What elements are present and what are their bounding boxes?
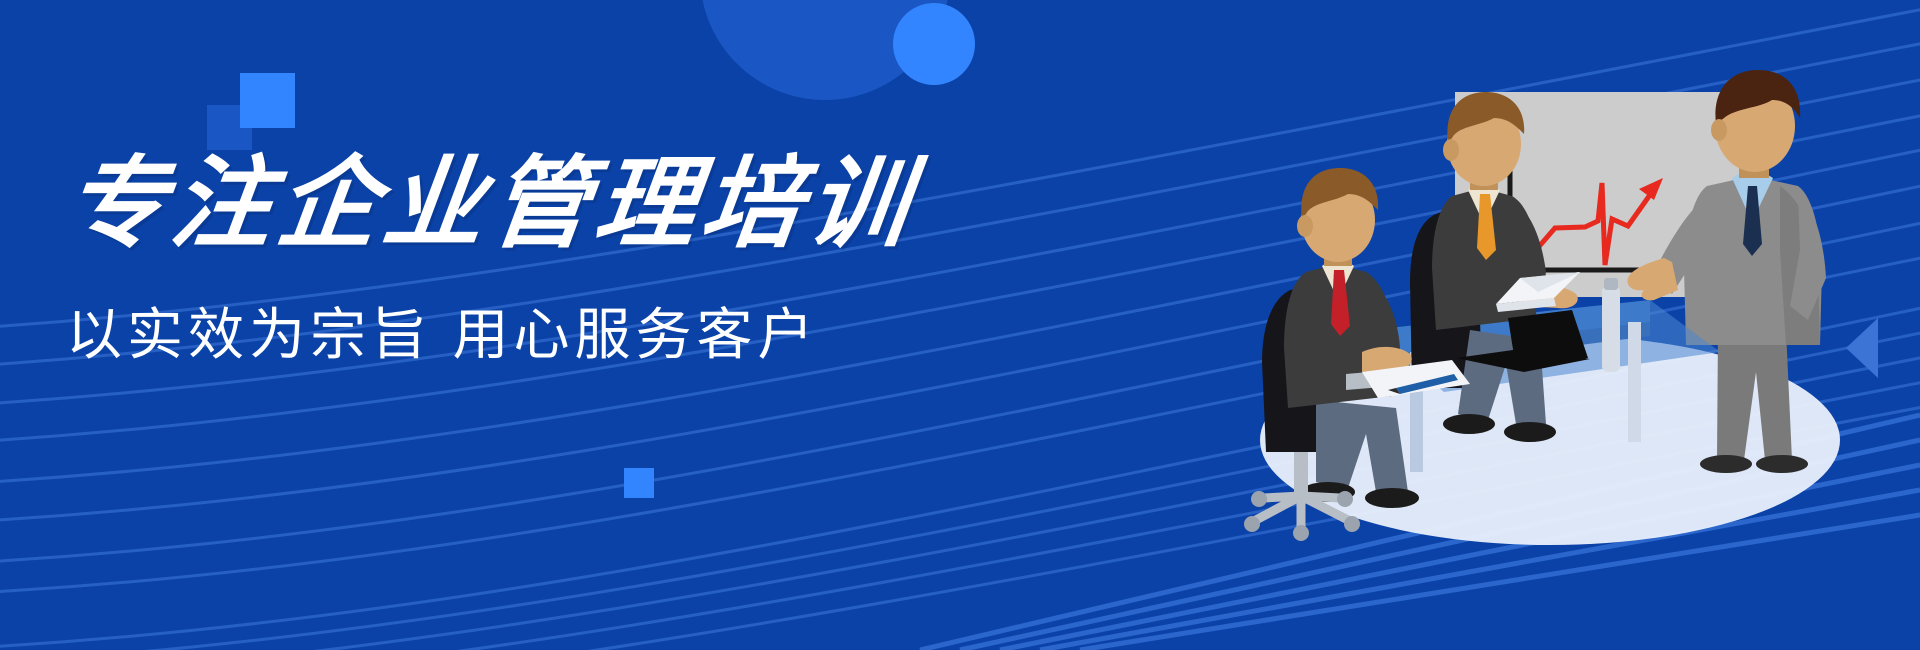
- chair-caster-4: [1251, 491, 1267, 507]
- seated-attendee-front: [1244, 168, 1419, 541]
- chair-caster-5: [1337, 491, 1353, 507]
- promo-banner: 专注企业管理培训 以实效为宗旨 用心服务客户: [0, 0, 1920, 650]
- presenter-ear: [1711, 119, 1727, 141]
- attendee-back-shoe-a: [1443, 414, 1495, 434]
- chair-caster-1: [1244, 516, 1260, 532]
- chair-base-star: [1256, 496, 1348, 528]
- attendee-front-shoe-b: [1365, 488, 1419, 508]
- copy-block: 专注企业管理培训 以实效为宗旨 用心服务客户: [66, 150, 1066, 366]
- page-subtitle: 以实效为宗旨 用心服务客户: [66, 304, 1066, 366]
- water-bottle: [1602, 286, 1620, 372]
- decorative-small-circle: [893, 3, 975, 85]
- decorative-tiny-square: [624, 468, 654, 498]
- table-leg-right: [1628, 322, 1641, 442]
- attendee-front-ear: [1297, 215, 1313, 237]
- decorative-bright-square: [240, 73, 295, 128]
- presenter-shoe-left: [1700, 455, 1752, 473]
- attendee-back-ear: [1443, 139, 1459, 161]
- chair-caster-2: [1344, 516, 1360, 532]
- attendee-back-shoe-b: [1504, 422, 1556, 442]
- water-bottle-cap: [1604, 278, 1618, 290]
- chair-column: [1294, 452, 1308, 496]
- business-training-meeting-illustration: [1220, 0, 1920, 650]
- presenter-shoe-right: [1756, 455, 1808, 473]
- page-title: 专注企业管理培训: [59, 150, 1072, 258]
- chair-caster-3: [1293, 525, 1309, 541]
